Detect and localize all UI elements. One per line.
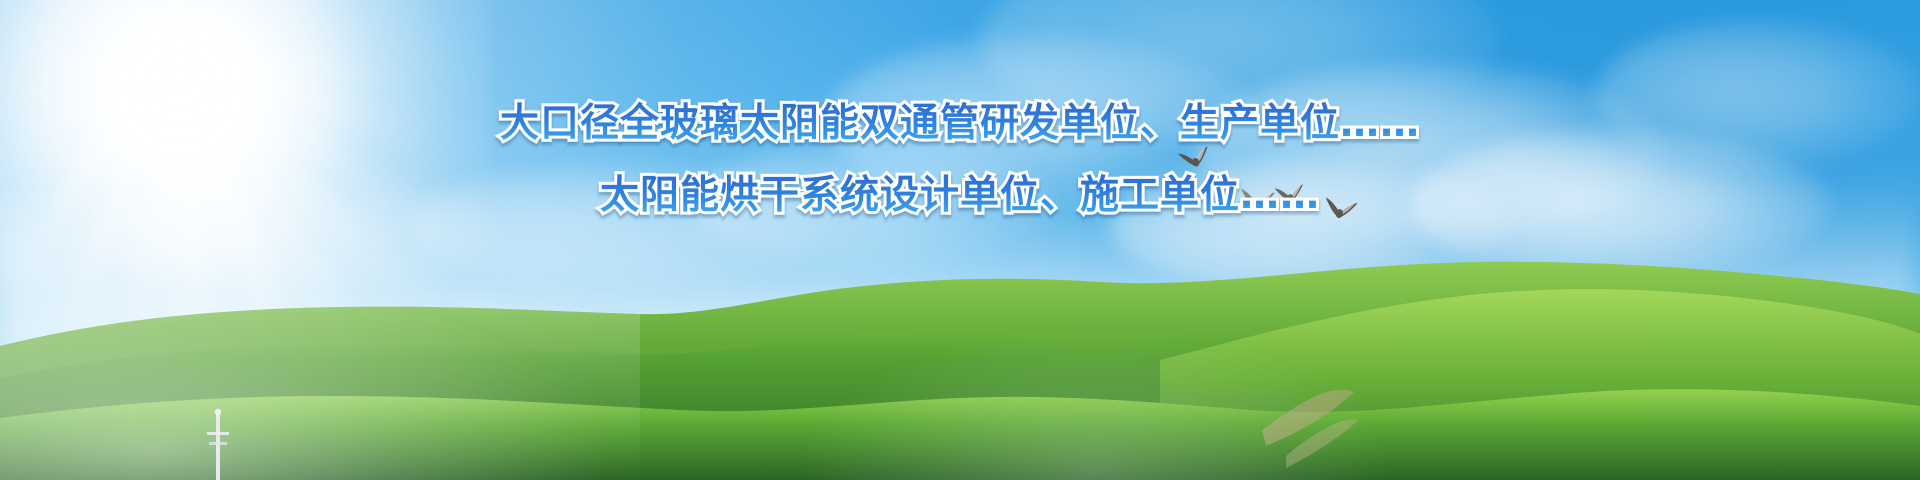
green-hills	[0, 250, 1920, 480]
bird-icon	[1320, 193, 1360, 227]
bird-icon	[1237, 184, 1278, 218]
bird-icon	[1272, 180, 1307, 210]
hero-banner: 大口径全玻璃太阳能双通管研发单位、生产单位…… 大口径全玻璃太阳能双通管研发单位…	[0, 0, 1920, 480]
utility-pole-icon	[205, 406, 231, 480]
